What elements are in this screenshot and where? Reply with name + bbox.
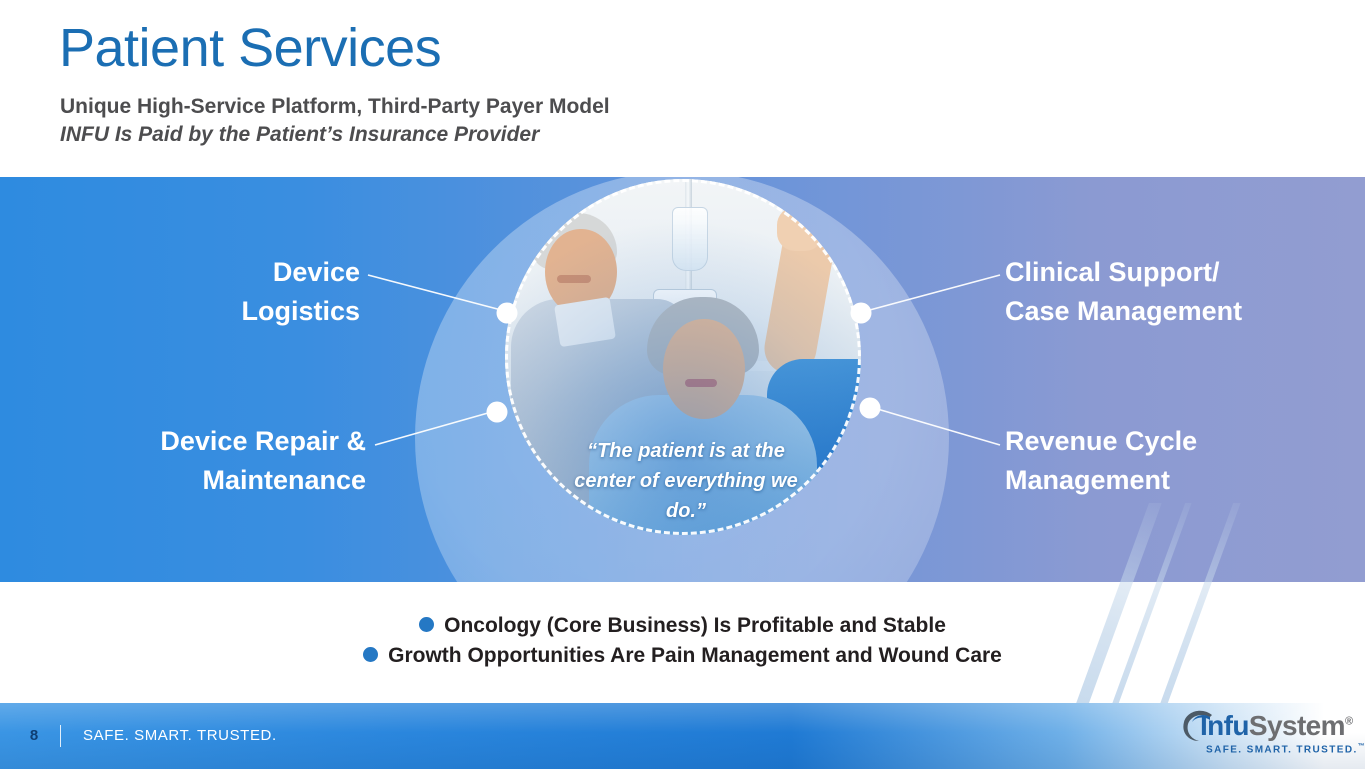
logo-wordmark: InfuSystem®	[1200, 710, 1352, 742]
bullet-item-2-text: Growth Opportunities Are Pain Management…	[388, 644, 1002, 667]
logo-tagline: SAFE. SMART. TRUSTED.™	[1206, 743, 1365, 755]
slide-header: Patient Services Unique High-Service Pla…	[0, 0, 1365, 177]
footer-separator	[60, 725, 61, 747]
label-revenue-cycle-line2: Management	[1005, 461, 1335, 500]
slide-root: Patient Services Unique High-Service Pla…	[0, 0, 1365, 769]
bullet-item-2: Growth Opportunities Are Pain Management…	[0, 641, 1365, 671]
label-clinical-support-case-management: Clinical Support/ Case Management	[1005, 253, 1355, 331]
label-device-logistics-line2: Logistics	[140, 292, 360, 331]
logo-word-system: System	[1249, 710, 1345, 741]
bullet-item-1: Oncology (Core Business) Is Profitable a…	[0, 611, 1365, 641]
bullet-item-1-text: Oncology (Core Business) Is Profitable a…	[444, 614, 946, 637]
slide-footer: 8 SAFE. SMART. TRUSTED.	[0, 703, 1365, 769]
label-device-repair-maintenance: Device Repair & Maintenance	[60, 422, 366, 500]
label-clinical-support-line1: Clinical Support/	[1005, 253, 1355, 292]
infusystem-logo: InfuSystem® SAFE. SMART. TRUSTED.™	[1176, 706, 1351, 762]
bullet-dot-icon	[363, 647, 378, 662]
label-device-repair-line2: Maintenance	[60, 461, 366, 500]
label-device-logistics-line1: Device	[140, 253, 360, 292]
bullet-section: Oncology (Core Business) Is Profitable a…	[0, 582, 1365, 703]
label-device-repair-line1: Device Repair &	[60, 422, 366, 461]
diagram-band: “The patient is at the center of everyth…	[0, 177, 1365, 582]
logo-word-infu: Infu	[1200, 710, 1249, 741]
label-clinical-support-line2: Case Management	[1005, 292, 1355, 331]
page-title: Patient Services	[59, 17, 441, 79]
registered-mark: ®	[1345, 716, 1353, 728]
bullet-dot-icon	[419, 617, 434, 632]
label-revenue-cycle-management: Revenue Cycle Management	[1005, 422, 1335, 500]
trademark-mark: ™	[1358, 743, 1365, 750]
subtitle-secondary: INFU Is Paid by the Patient’s Insurance …	[60, 121, 539, 148]
footer-tagline: SAFE. SMART. TRUSTED.	[83, 727, 277, 744]
label-device-logistics: Device Logistics	[140, 253, 360, 331]
connector-lines	[0, 177, 1365, 582]
label-revenue-cycle-line1: Revenue Cycle	[1005, 422, 1335, 461]
subtitle-primary: Unique High-Service Platform, Third-Part…	[60, 93, 610, 120]
page-number: 8	[24, 727, 44, 744]
logo-tagline-text: SAFE. SMART. TRUSTED.	[1206, 744, 1358, 755]
